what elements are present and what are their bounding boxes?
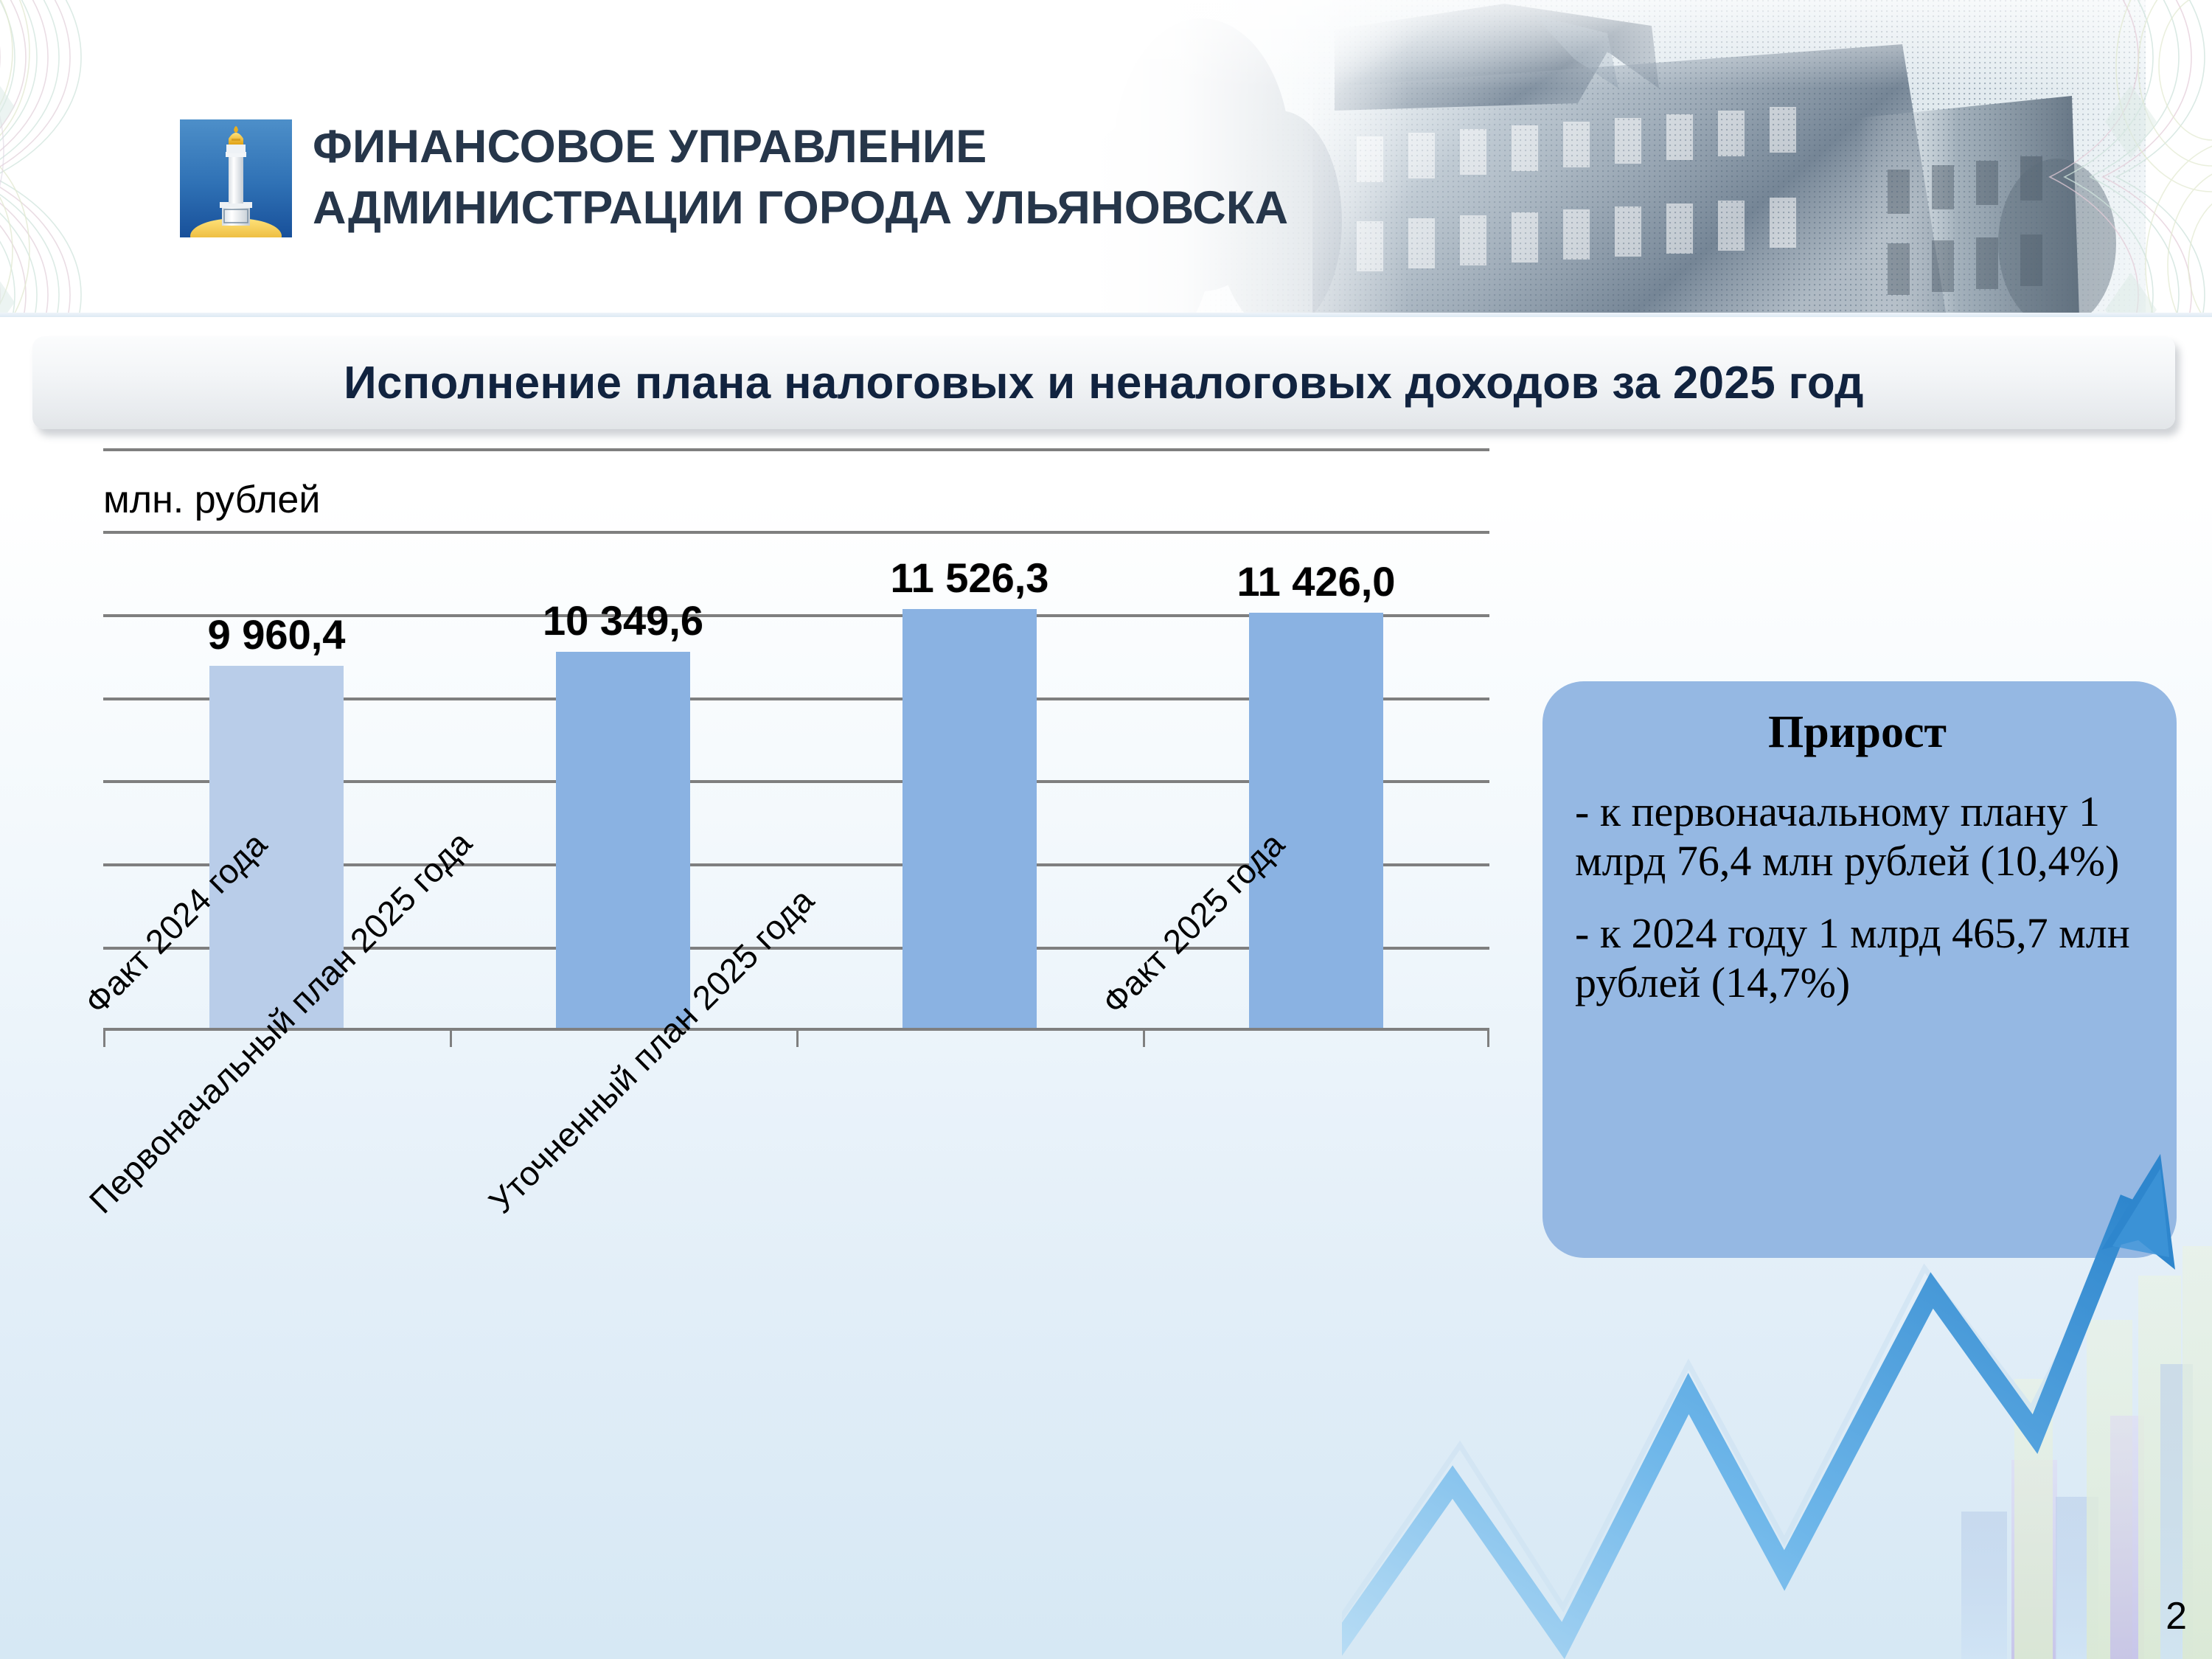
x-axis-tick <box>103 1031 105 1047</box>
growth-panel-heading: Прирост <box>1575 706 2140 759</box>
x-axis-tick <box>1143 1031 1145 1047</box>
organization-title: ФИНАНСОВОЕ УПРАВЛЕНИЕ АДМИНИСТРАЦИИ ГОРО… <box>313 116 1315 239</box>
chart-unit-label: млн. рублей <box>103 478 320 522</box>
bar-series: 9 960,4 10 349,6 11 526,3 11 426,0 <box>103 519 1489 1028</box>
x-axis-tick <box>796 1031 799 1047</box>
page-number: 2 <box>2166 1594 2187 1638</box>
growth-item-vs-initial-plan: - к первоначальному плану 1 млрд 76,4 мл… <box>1575 787 2140 886</box>
organization-title-line-1: ФИНАНСОВОЕ УПРАВЛЕНИЕ <box>313 116 1315 178</box>
x-axis-tick <box>1487 1031 1489 1047</box>
ulyanovsk-coat-of-arms-icon <box>180 119 292 237</box>
bar-pervonachalny-plan-2025[interactable] <box>556 652 690 1028</box>
decor-zigzag-arrow <box>1342 1198 2129 1659</box>
bar-value-label: 11 426,0 <box>1237 557 1396 605</box>
photo-fade-top <box>1091 0 2146 88</box>
header-band: ФИНАНСОВОЕ УПРАВЛЕНИЕ АДМИНИСТРАЦИИ ГОРО… <box>0 0 2212 317</box>
x-axis-tick <box>450 1031 452 1047</box>
page-title: Исполнение плана налоговых и неналоговых… <box>344 357 1864 409</box>
bar-value-label: 11 526,3 <box>891 554 1049 602</box>
bar-fakt-2025[interactable] <box>1249 613 1383 1028</box>
slide-root: ФИНАНСОВОЕ УПРАВЛЕНИЕ АДМИНИСТРАЦИИ ГОРО… <box>0 0 2212 1659</box>
growth-item-vs-2024: - к 2024 году 1 млрд 465,7 млн рублей (1… <box>1575 908 2140 1008</box>
decor-ghost-line <box>1342 1187 2146 1659</box>
bar-utochnenny-plan-2025[interactable] <box>902 609 1037 1028</box>
bar-slot: 11 426,0 <box>1143 519 1489 1028</box>
growth-panel: Прирост - к первоначальному плану 1 млрд… <box>1543 681 2177 1258</box>
bar-chart: млн. рублей 9 960,4 10 349,6 11 526,3 <box>103 448 1504 1031</box>
organization-title-line-2: АДМИНИСТРАЦИИ ГОРОДА УЛЬЯНОВСКА <box>313 178 1315 239</box>
slide-title-bar: Исполнение плана налоговых и неналоговых… <box>32 336 2175 429</box>
bar-value-label: 10 349,6 <box>543 597 703 644</box>
gridline <box>103 448 1489 451</box>
bar-slot: 11 526,3 <box>796 519 1143 1028</box>
bar-value-label: 9 960,4 <box>208 611 346 658</box>
